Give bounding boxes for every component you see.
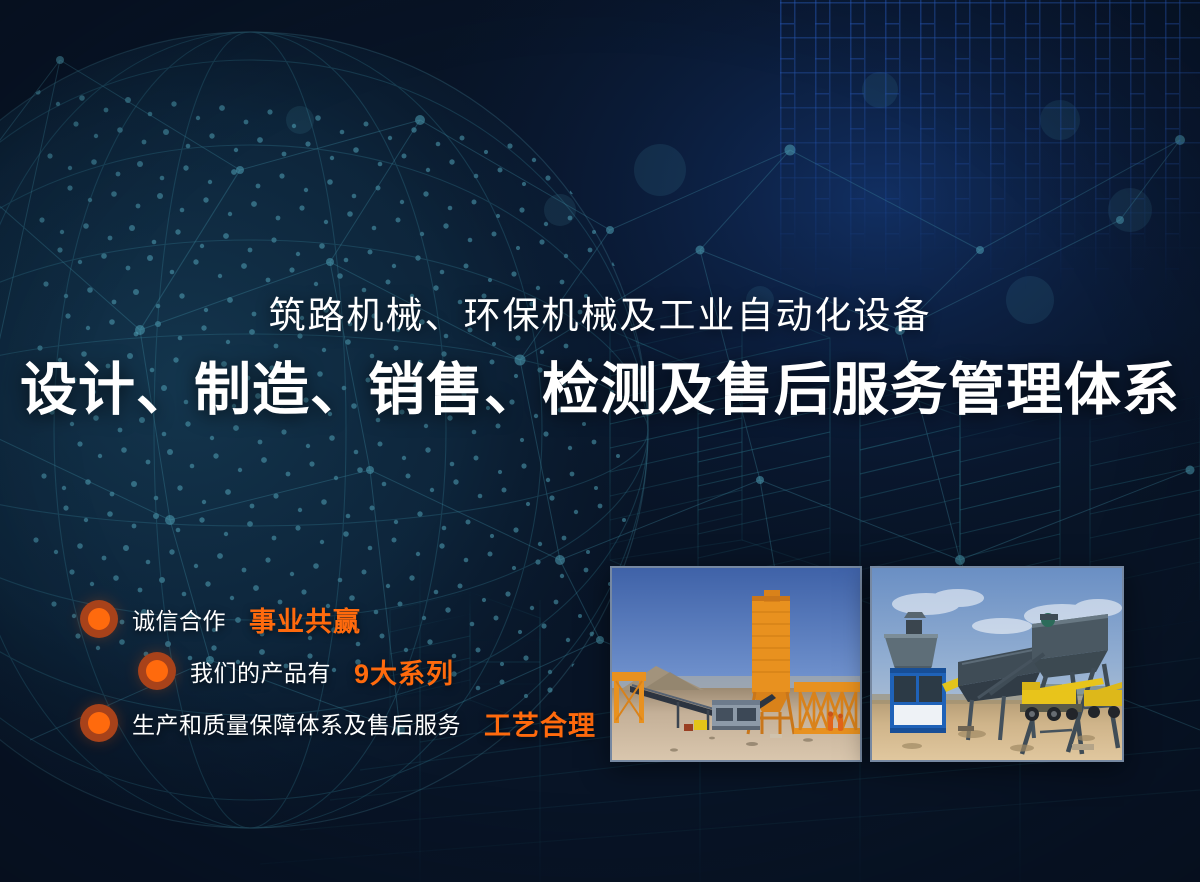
orange-dot-icon: [80, 600, 118, 638]
promo-banner: 筑路机械、环保机械及工业自动化设备 设计、制造、销售、检测及售后服务管理体系 诚…: [0, 0, 1200, 882]
orange-dot-icon: [80, 704, 118, 742]
banner-title: 设计、制造、销售、检测及售后服务管理体系: [0, 356, 1200, 424]
concrete-batching-plant-photo: [610, 566, 862, 762]
bullet-item-1: 诚信合作 事业共赢: [0, 596, 600, 642]
bullet-item-2: 我们的产品有 9大系列: [0, 648, 600, 694]
headline-block: 筑路机械、环保机械及工业自动化设备 设计、制造、销售、检测及售后服务管理体系: [0, 292, 1200, 424]
bullet-highlight-2: 9大系列: [354, 659, 454, 689]
bullet-item-3: 生产和质量保障体系及售后服务 工艺合理: [0, 700, 600, 746]
banner-subtitle: 筑路机械、环保机械及工业自动化设备: [0, 292, 1200, 340]
bullet-highlight-1: 事业共赢: [249, 607, 361, 637]
feature-bullet-list: 诚信合作 事业共赢 我们的产品有 9大系列 生产和质量保障体系及售后服务 工艺合…: [0, 596, 600, 752]
bullet-label-2: 我们的产品有: [190, 654, 331, 688]
bullet-label-1: 诚信合作: [132, 602, 226, 636]
mobile-mixing-plant-photo: [870, 566, 1124, 762]
orange-dot-icon: [138, 652, 176, 690]
bullet-label-3: 生产和质量保障体系及售后服务: [132, 706, 461, 740]
bullet-highlight-3: 工艺合理: [484, 711, 596, 741]
